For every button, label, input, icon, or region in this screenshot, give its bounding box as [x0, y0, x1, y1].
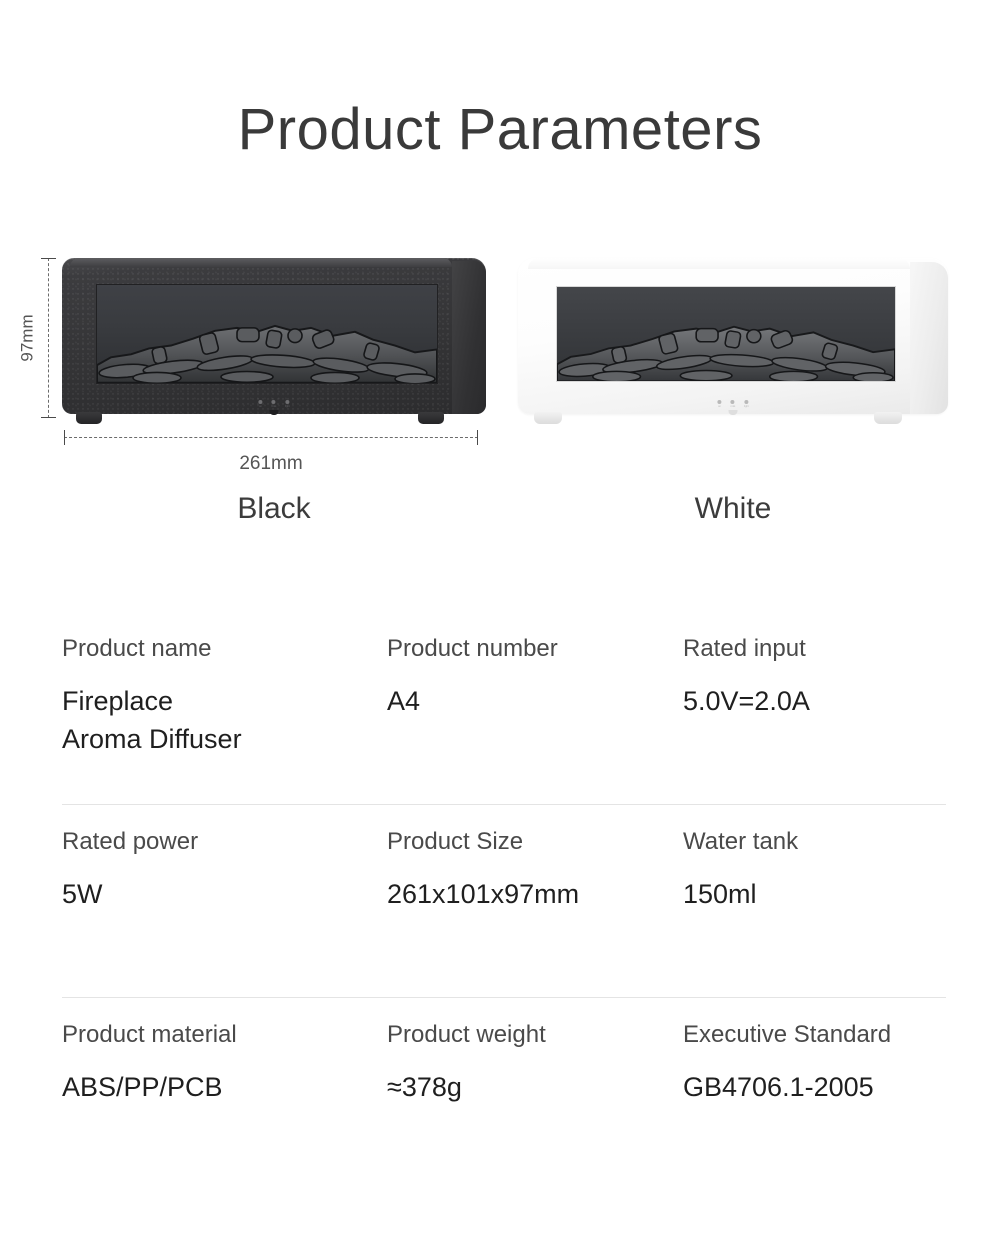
control-button-0[interactable]: on [717, 400, 721, 408]
dimension-width-line [64, 437, 478, 438]
spec-value: 5W [62, 857, 387, 913]
spec-cell-rated-power: Rated power 5W [62, 805, 387, 998]
dimension-width: 261mm [64, 437, 478, 438]
product-image-black: on mist light [62, 258, 486, 414]
control-button-2[interactable]: light [285, 400, 290, 408]
dimension-width-label: 261mm [64, 453, 478, 475]
spec-key: Water tank [683, 805, 983, 857]
black-side-face [452, 261, 486, 414]
variant-caption-white: White [518, 492, 948, 526]
black-top-bevel [70, 258, 452, 267]
product-showcase: 97mm 261mm [0, 0, 1000, 560]
spec-cell-rated-input: Rated input 5.0V=2.0A [683, 612, 983, 805]
white-foot-left [534, 412, 562, 424]
dimension-height-label: 97mm [18, 314, 38, 361]
control-button-0[interactable]: on [258, 400, 262, 408]
white-top-bevel [528, 258, 910, 269]
spec-key: Rated power [62, 805, 387, 857]
black-foot-right [418, 412, 444, 424]
black-flame-window [96, 284, 438, 384]
dimension-width-cap-left [64, 430, 65, 445]
dimension-height-cap-bottom [41, 417, 56, 418]
variant-caption-black: Black [62, 492, 486, 526]
white-base-notch [729, 410, 738, 415]
product-image-white: on mist light [518, 258, 948, 414]
black-base-notch [270, 410, 279, 415]
spec-value: 5.0V=2.0A [683, 664, 983, 720]
spec-row: Rated power 5W Product Size 261x101x97mm… [0, 805, 1000, 998]
spec-cell-water-tank: Water tank 150ml [683, 805, 983, 998]
spec-cell-product-weight: Product weight ≈378g [387, 998, 683, 1138]
spec-cell-product-name: Product name Fireplace Aroma Diffuser [62, 612, 387, 805]
control-buttons-white[interactable]: on mist light [717, 400, 748, 408]
dimension-width-cap-right [477, 430, 478, 445]
spec-key: Product material [62, 998, 387, 1050]
spec-cell-product-size: Product Size 261x101x97mm [387, 805, 683, 998]
spec-key: Product name [62, 612, 387, 664]
spec-key: Rated input [683, 612, 983, 664]
black-foot-left [76, 412, 102, 424]
spec-value: GB4706.1-2005 [683, 1050, 983, 1106]
spec-key: Product Size [387, 805, 683, 857]
control-buttons-black[interactable]: on mist light [258, 400, 289, 408]
white-side-face [910, 262, 948, 414]
spec-key: Product number [387, 612, 683, 664]
spec-value: Fireplace Aroma Diffuser [62, 664, 387, 758]
spec-cell-product-number: Product number A4 [387, 612, 683, 805]
spec-value: 261x101x97mm [387, 857, 683, 913]
spec-table: Product name Fireplace Aroma Diffuser Pr… [0, 612, 1000, 1138]
log-relief-black [97, 322, 437, 383]
spec-value: ABS/PP/PCB [62, 1050, 387, 1106]
control-button-1[interactable]: mist [271, 400, 276, 408]
log-relief-white [557, 323, 895, 381]
spec-key: Executive Standard [683, 998, 983, 1050]
dimension-height: 97mm [48, 258, 49, 418]
white-flame-window [556, 286, 896, 382]
spec-cell-executive-standard: Executive Standard GB4706.1-2005 [683, 998, 983, 1138]
dimension-height-cap-top [41, 258, 56, 259]
spec-row: Product name Fireplace Aroma Diffuser Pr… [0, 612, 1000, 805]
spec-value: 150ml [683, 857, 983, 913]
control-button-2[interactable]: light [744, 400, 749, 408]
spec-row: Product material ABS/PP/PCB Product weig… [0, 998, 1000, 1138]
spec-value: A4 [387, 664, 683, 720]
spec-value: ≈378g [387, 1050, 683, 1106]
dimension-height-line [48, 258, 49, 418]
spec-cell-product-material: Product material ABS/PP/PCB [62, 998, 387, 1138]
white-foot-right [874, 412, 902, 424]
spec-key: Product weight [387, 998, 683, 1050]
control-button-1[interactable]: mist [730, 400, 735, 408]
